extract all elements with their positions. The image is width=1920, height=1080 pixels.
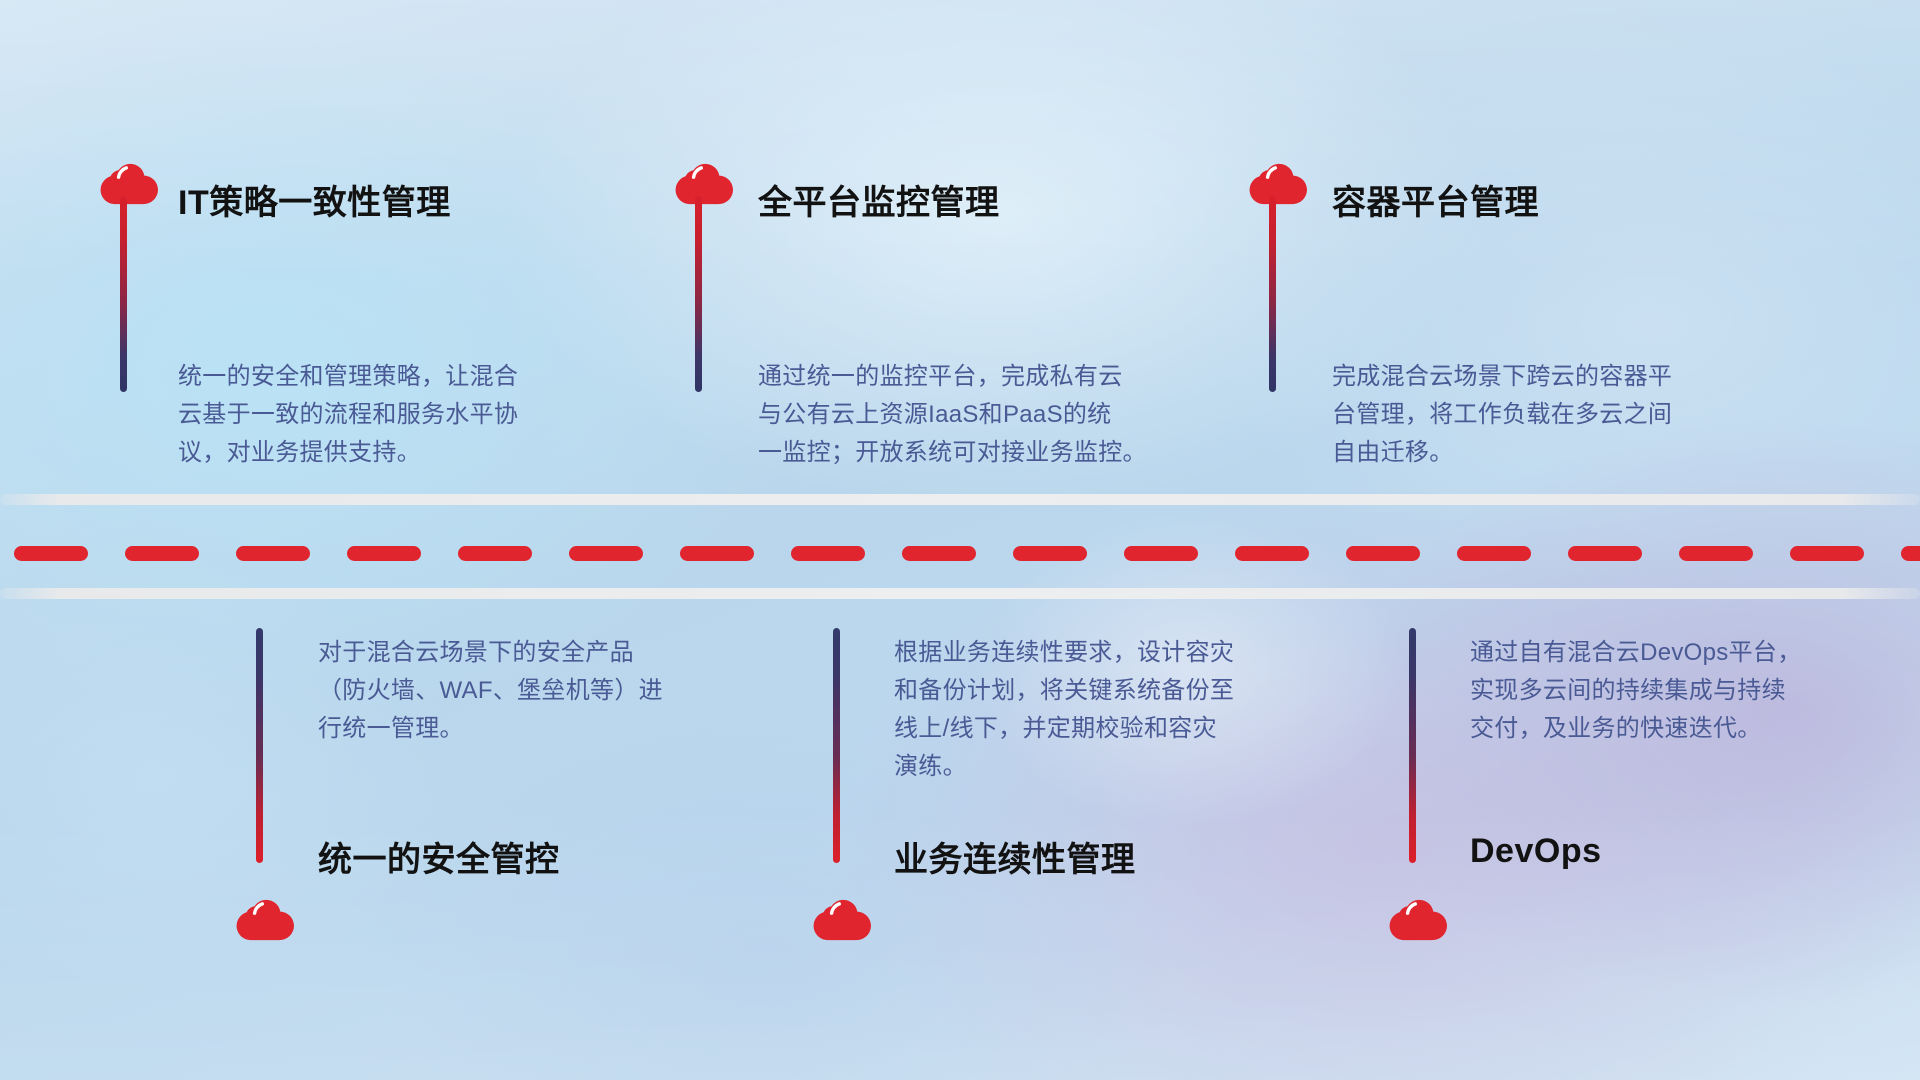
- road-dash: [1679, 546, 1753, 561]
- connector-stem: [1269, 196, 1276, 392]
- connector-stem: [695, 196, 702, 392]
- road-dash: [1013, 546, 1087, 561]
- road-dash: [1790, 546, 1864, 561]
- road-dash: [236, 546, 310, 561]
- connector-stem: [256, 628, 263, 863]
- infographic-canvas: IT策略一致性管理 统一的安全和管理策略，让混合 云基于一致的流程和服务水平协 …: [0, 0, 1920, 1080]
- item-title: 容器平台管理: [1332, 175, 1539, 224]
- road-dash: [791, 546, 865, 561]
- item-title: IT策略一致性管理: [178, 175, 451, 224]
- road-center-dashes: [0, 545, 1920, 561]
- item-description: 统一的安全和管理策略，让混合 云基于一致的流程和服务水平协 议，对业务提供支持。: [178, 358, 518, 472]
- item-title: 全平台监控管理: [758, 175, 1000, 224]
- cloud-icon: [1247, 162, 1309, 209]
- road-dash: [1124, 546, 1198, 561]
- item-description: 对于混合云场景下的安全产品 （防火墙、WAF、堡垒机等）进 行统一管理。: [318, 634, 663, 748]
- road-dash: [1568, 546, 1642, 561]
- cloud-icon: [673, 162, 735, 209]
- road-edge-top-line: [0, 494, 1920, 505]
- road-dash: [347, 546, 421, 561]
- cloud-icon: [98, 162, 160, 209]
- item-title: 业务连续性管理: [894, 832, 1136, 881]
- cloud-icon: [1387, 898, 1449, 945]
- item-description: 完成混合云场景下跨云的容器平 台管理，将工作负载在多云之间 自由迁移。: [1332, 358, 1672, 472]
- road-dash: [1235, 546, 1309, 561]
- road-dash: [458, 546, 532, 561]
- road-dash: [680, 546, 754, 561]
- item-title: 统一的安全管控: [318, 832, 560, 881]
- item-description: 根据业务连续性要求，设计容灾 和备份计划，将关键系统备份至 线上/线下，并定期校…: [894, 634, 1234, 786]
- road-dash: [125, 546, 199, 561]
- road-dash: [902, 546, 976, 561]
- cloud-icon: [234, 898, 296, 945]
- item-description: 通过自有混合云DevOps平台， 实现多云间的持续集成与持续 交付，及业务的快速…: [1470, 634, 1802, 748]
- item-description: 通过统一的监控平台，完成私有云 与公有云上资源IaaS和PaaS的统 一监控；开…: [758, 358, 1147, 472]
- item-title: DevOps: [1470, 832, 1602, 871]
- road-dash: [1346, 546, 1420, 561]
- cloud-icon: [811, 898, 873, 945]
- road-edge-bottom-line: [0, 588, 1920, 599]
- connector-stem: [120, 196, 127, 392]
- road-dash: [1457, 546, 1531, 561]
- road-dash: [14, 546, 88, 561]
- road-dash: [1901, 546, 1920, 561]
- connector-stem: [833, 628, 840, 863]
- connector-stem: [1409, 628, 1416, 863]
- road-dash: [569, 546, 643, 561]
